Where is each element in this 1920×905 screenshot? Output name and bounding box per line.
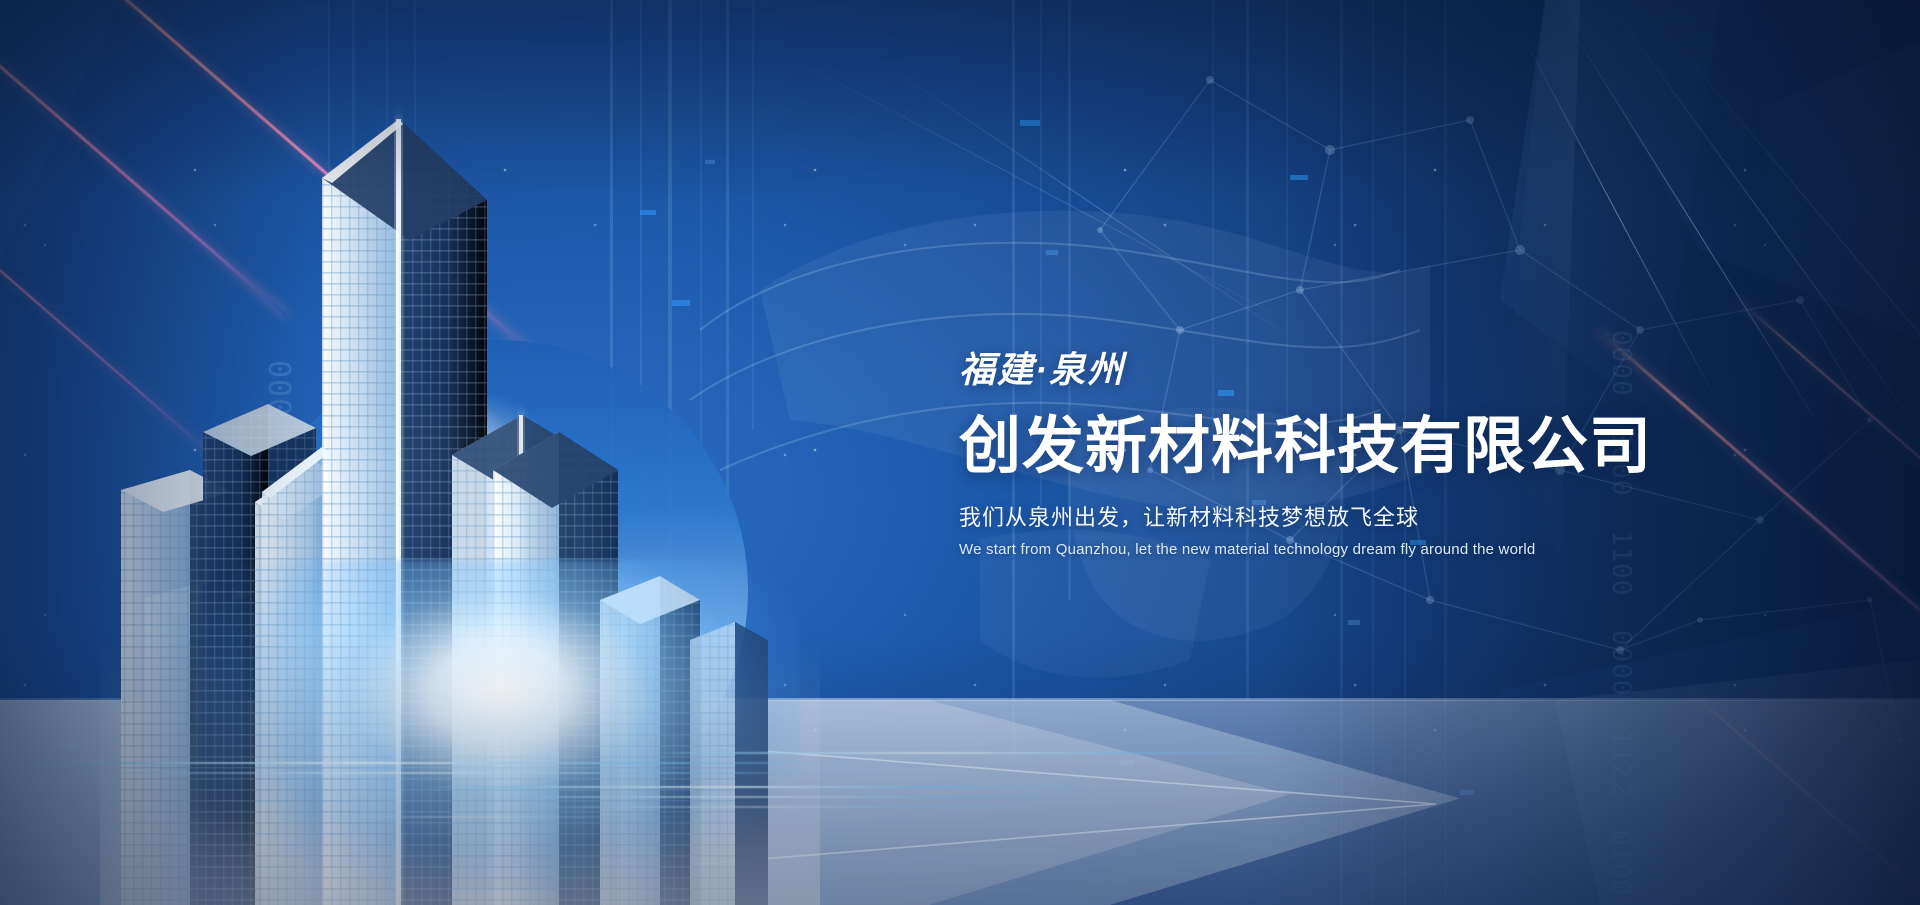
- banner-canvas: 0000 1100 0000 1122 00 00 0000 0000 1100…: [0, 0, 1920, 905]
- slogan-english: We start from Quanzhou, let the new mate…: [959, 540, 1679, 560]
- slogan-chinese: 我们从泉州出发，让新材料科技梦想放飞全球: [959, 504, 1679, 533]
- location-label: 福建·泉州: [959, 352, 1679, 388]
- sphere-glow: [200, 560, 800, 890]
- company-name-title: 创发新材料科技有限公司: [959, 414, 1679, 480]
- banner-text-block: 福建·泉州 创发新材料科技有限公司 我们从泉州出发，让新材料科技梦想放飞全球 W…: [959, 352, 1679, 560]
